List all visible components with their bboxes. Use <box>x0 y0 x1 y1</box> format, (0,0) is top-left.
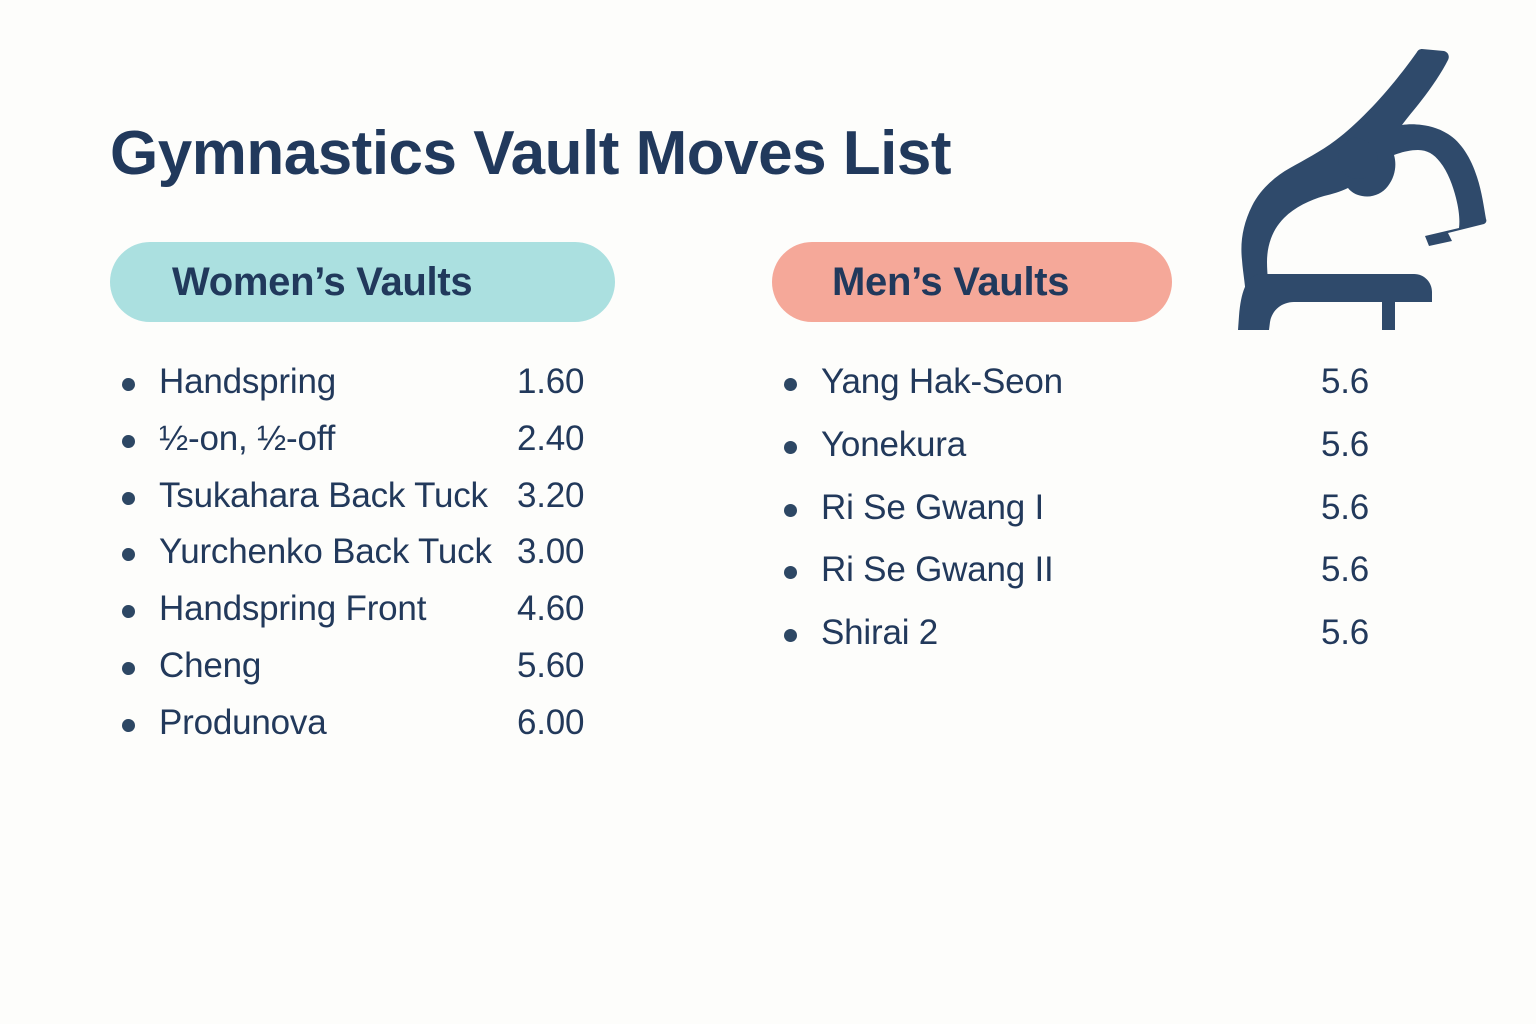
bullet-icon <box>122 605 135 618</box>
vault-name: Ri Se Gwang I <box>821 486 1321 531</box>
bullet-icon <box>784 504 797 517</box>
section-heading-label: Women’s Vaults <box>172 260 472 305</box>
list-item: Tsukahara Back Tuck 3.20 <box>122 474 662 519</box>
vault-name: Yonekura <box>821 423 1321 468</box>
list-item: Produnova 6.00 <box>122 701 662 746</box>
bullet-icon <box>122 662 135 675</box>
page-title: Gymnastics Vault Moves List <box>110 120 951 188</box>
vault-name: Cheng <box>159 644 517 689</box>
list-item: Handspring Front 4.60 <box>122 587 662 632</box>
vault-name: Handspring Front <box>159 587 517 632</box>
vault-name: Produnova <box>159 701 517 746</box>
bullet-icon <box>122 548 135 561</box>
vault-name: Yang Hak-Seon <box>821 360 1321 405</box>
vault-name: Tsukahara Back Tuck <box>159 474 517 519</box>
vault-list-women: Handspring 1.60 ½-on, ½-off 2.40 Tsukaha… <box>122 360 662 758</box>
vault-value: 5.6 <box>1321 486 1369 531</box>
vault-value: 1.60 <box>517 360 584 405</box>
vault-list-men: Yang Hak-Seon 5.6 Yonekura 5.6 Ri Se Gwa… <box>784 360 1424 674</box>
bullet-icon <box>784 566 797 579</box>
vault-value: 5.6 <box>1321 423 1369 468</box>
list-item: Handspring 1.60 <box>122 360 662 405</box>
bullet-icon <box>122 492 135 505</box>
list-item: Cheng 5.60 <box>122 644 662 689</box>
bullet-icon <box>122 435 135 448</box>
vault-value: 3.00 <box>517 530 584 575</box>
bullet-icon <box>122 719 135 732</box>
section-header-women: Women’s Vaults <box>110 242 615 322</box>
list-item: Yurchenko Back Tuck 3.00 <box>122 530 662 575</box>
vault-value: 5.6 <box>1321 611 1369 656</box>
vault-value: 5.6 <box>1321 360 1369 405</box>
bullet-icon <box>784 629 797 642</box>
vault-name: Handspring <box>159 360 517 405</box>
list-item: Ri Se Gwang II 5.6 <box>784 548 1424 593</box>
section-men: Men’s Vaults Yang Hak-Seon 5.6 Yonekura … <box>772 242 1432 322</box>
vault-name: Shirai 2 <box>821 611 1321 656</box>
section-header-men: Men’s Vaults <box>772 242 1172 322</box>
vault-value: 6.00 <box>517 701 584 746</box>
list-item: ½-on, ½-off 2.40 <box>122 417 662 462</box>
list-item: Shirai 2 5.6 <box>784 611 1424 656</box>
section-heading-label: Men’s Vaults <box>832 260 1069 305</box>
vault-moves-page: Gymnastics Vault Moves List Women’s Vaul… <box>0 0 1536 1024</box>
vault-name: ½-on, ½-off <box>159 417 517 462</box>
vault-value: 5.60 <box>517 644 584 689</box>
vault-value: 2.40 <box>517 417 584 462</box>
vault-value: 5.6 <box>1321 548 1369 593</box>
vault-value: 3.20 <box>517 474 584 519</box>
vault-name: Yurchenko Back Tuck <box>159 530 517 575</box>
list-item: Yang Hak-Seon 5.6 <box>784 360 1424 405</box>
vault-value: 4.60 <box>517 587 584 632</box>
vault-name: Ri Se Gwang II <box>821 548 1321 593</box>
list-item: Ri Se Gwang I 5.6 <box>784 486 1424 531</box>
list-item: Yonekura 5.6 <box>784 423 1424 468</box>
section-women: Women’s Vaults Handspring 1.60 ½-on, ½-o… <box>110 242 670 322</box>
bullet-icon <box>784 378 797 391</box>
bullet-icon <box>122 378 135 391</box>
bullet-icon <box>784 441 797 454</box>
